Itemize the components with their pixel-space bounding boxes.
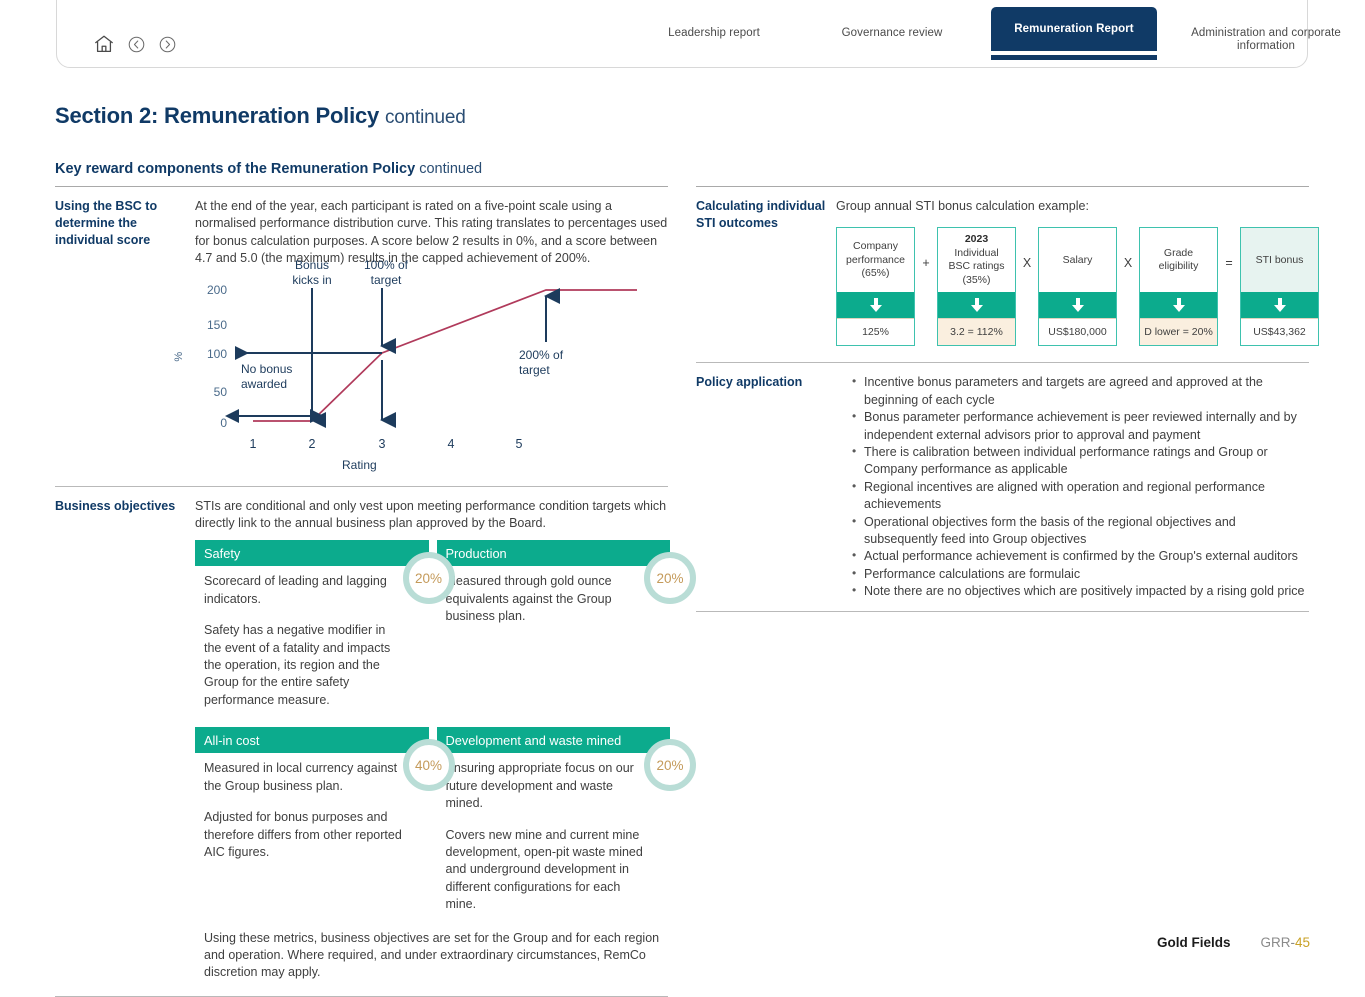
down-arrow-icon: [1241, 292, 1318, 318]
chart-xtick-4: 4: [441, 436, 461, 453]
page-title: Section 2: Remuneration Policy continued: [55, 103, 466, 129]
flow-operator-plus: +: [915, 227, 937, 272]
tab-bar: Leadership report Governance review Remu…: [597, 1, 1297, 69]
row-label-calculating-sti-outcomes: Calculating individual STI outcomes: [696, 187, 836, 346]
flow-title-line: Individual: [954, 247, 998, 261]
objective-card-body: Ensuring appropriate focus on our future…: [437, 753, 655, 913]
flow-box-value: 125%: [837, 318, 914, 345]
flow-operator-multiply-2: X: [1117, 227, 1139, 272]
objective-cards-row-1: Safety Scorecard of leading and lagging …: [195, 540, 670, 723]
tab-governance-review[interactable]: Governance review: [817, 1, 967, 40]
next-icon[interactable]: [158, 35, 177, 54]
flow-title-line: eligibility: [1159, 260, 1199, 274]
row-label-using-the-bsc: Using the BSC to determine the individua…: [55, 187, 195, 480]
sti-intro: Group annual STI bonus calculation examp…: [836, 198, 1319, 215]
flow-box-salary: Salary US$180,000: [1038, 227, 1117, 346]
policy-bullet: Performance calculations are formulaic: [852, 566, 1309, 583]
tab-leadership-report[interactable]: Leadership report: [639, 1, 789, 40]
flow-title-line: 2023: [965, 233, 988, 247]
flow-title-line: BSC ratings: [948, 260, 1004, 274]
down-arrow-icon: [1039, 292, 1116, 318]
chart-y-axis-label: %: [171, 351, 188, 361]
chart-ytick-0: 0: [193, 415, 227, 432]
objective-card-paragraph: Safety has a negative modifier in the ev…: [204, 622, 404, 709]
chart-xtick-2: 2: [302, 436, 322, 453]
row-body-policy-application: Incentive bonus parameters and targets a…: [836, 363, 1309, 600]
chart-ytick-100: 100: [193, 346, 227, 363]
objective-card-all-in-cost: All-in cost Measured in local currency a…: [195, 727, 429, 927]
objective-card-paragraph: Measured through gold ounce equivalents …: [446, 573, 646, 625]
row-calculating-sti-outcomes: Calculating individual STI outcomes Grou…: [696, 187, 1309, 346]
objective-card-paragraph: Ensuring appropriate focus on our future…: [446, 760, 646, 812]
row-label-policy-application: Policy application: [696, 363, 836, 600]
objective-card-title: All-in cost: [195, 727, 429, 753]
down-arrow-icon: [938, 292, 1015, 318]
flow-box-title: Grade eligibility: [1140, 228, 1217, 292]
home-icon[interactable]: [93, 33, 115, 55]
down-arrow-icon: [837, 292, 914, 318]
flow-box-individual-bsc-ratings: 2023 Individual BSC ratings (35%) 3.2 = …: [937, 227, 1016, 346]
tab-remuneration-report[interactable]: Remuneration Report: [991, 7, 1157, 51]
chart-ytick-50: 50: [193, 384, 227, 401]
objective-card-title: Production: [437, 540, 671, 566]
row-business-objectives: Business objectives STIs are conditional…: [55, 487, 668, 982]
policy-bullet: Note there are no objectives which are p…: [852, 583, 1309, 600]
flow-box-value: US$180,000: [1039, 318, 1116, 345]
row-policy-application: Policy application Incentive bonus param…: [696, 363, 1309, 600]
divider-bottom-right: [696, 611, 1309, 612]
row-body-using-the-bsc: At the end of the year, each participant…: [195, 187, 668, 480]
chart-xtick-1: 1: [243, 436, 263, 453]
objective-cards-row-2: All-in cost Measured in local currency a…: [195, 727, 670, 927]
objective-cards: Safety Scorecard of leading and lagging …: [195, 540, 670, 981]
objective-weight-badge: 20%: [644, 552, 696, 604]
policy-bullet: Actual performance achievement is confir…: [852, 548, 1309, 565]
chart-ytick-150: 150: [193, 317, 227, 334]
policy-bullet: Regional incentives are aligned with ope…: [852, 479, 1309, 514]
row-body-business-objectives: STIs are conditional and only vest upon …: [195, 487, 670, 982]
tab-administration-and-corporate-information[interactable]: Administration and corporate information: [1173, 1, 1359, 53]
flow-title-line: (65%): [861, 267, 889, 281]
flow-title-line: STI bonus: [1256, 254, 1304, 268]
flow-operator-multiply-1: X: [1016, 227, 1038, 272]
policy-bullet: Bonus parameter performance achievement …: [852, 409, 1309, 444]
flow-operator-equals: =: [1218, 227, 1240, 272]
objective-card-title: Safety: [195, 540, 429, 566]
prev-icon[interactable]: [127, 35, 146, 54]
flow-box-title: Company performance (65%): [837, 228, 914, 292]
objective-card-safety: Safety Scorecard of leading and lagging …: [195, 540, 429, 723]
business-objectives-closing-note: Using these metrics, business objectives…: [195, 930, 670, 982]
flow-box-value: 3.2 = 112%: [938, 318, 1015, 345]
objective-card-body: Measured in local currency against the G…: [195, 753, 413, 861]
footer-brand: Gold Fields: [1157, 935, 1231, 950]
flow-box-value: D lower = 20%: [1140, 318, 1217, 345]
policy-bullet: Operational objectives form the basis of…: [852, 514, 1309, 549]
flow-title-line: (35%): [962, 274, 990, 288]
policy-bullet: Incentive bonus parameters and targets a…: [852, 374, 1309, 409]
page-title-suffix: continued: [385, 107, 466, 128]
objective-card-development-and-waste-mined: Development and waste mined Ensuring app…: [437, 727, 671, 927]
bsc-paragraph: At the end of the year, each participant…: [195, 198, 668, 268]
objective-card-production: Production Measured through gold ounce e…: [437, 540, 671, 723]
sti-calculation-flow: Company performance (65%) 125% + 2023 In…: [836, 227, 1319, 346]
chart-xtick-5: 5: [509, 436, 529, 453]
row-body-calculating-sti-outcomes: Group annual STI bonus calculation examp…: [836, 187, 1319, 346]
objective-weight-badge: 20%: [644, 739, 696, 791]
chart-xtick-3: 3: [372, 436, 392, 453]
flow-box-company-performance: Company performance (65%) 125%: [836, 227, 915, 346]
flow-title-line: Salary: [1063, 254, 1093, 268]
flow-box-sti-bonus: STI bonus US$43,362: [1240, 227, 1319, 346]
tab-active-indicator: [991, 55, 1157, 60]
chart-ytick-200: 200: [193, 282, 227, 299]
nav-icon-group: [93, 33, 177, 55]
objective-card-paragraph: Scorecard of leading and lagging indicat…: [204, 573, 404, 608]
flow-box-title: 2023 Individual BSC ratings (35%): [938, 228, 1015, 292]
objective-card-body: Measured through gold ounce equivalents …: [437, 566, 655, 625]
row-label-business-objectives: Business objectives: [55, 487, 195, 982]
sub-heading: Key reward components of the Remuneratio…: [55, 161, 482, 177]
policy-bullet: There is calibration between individual …: [852, 444, 1309, 479]
page-title-main: Section 2: Remuneration Policy: [55, 103, 379, 128]
flow-box-value: US$43,362: [1241, 318, 1318, 345]
footer-page-reference: GRR-45: [1260, 935, 1310, 950]
chart-x-axis-label: Rating: [342, 457, 377, 474]
down-arrow-icon: [1140, 292, 1217, 318]
objective-card-title: Development and waste mined: [437, 727, 671, 753]
flow-title-line: Grade: [1164, 247, 1193, 261]
page-footer: Gold Fields GRR-45: [1157, 935, 1310, 950]
business-objectives-intro: STIs are conditional and only vest upon …: [195, 498, 670, 533]
objective-card-paragraph: Adjusted for bonus purposes and therefor…: [204, 809, 404, 861]
flow-box-title: Salary: [1039, 228, 1116, 292]
chart-annotation-200-of-target: 200% of target: [519, 348, 597, 378]
chart-annotation-100-of-target: 100% of target: [349, 258, 423, 288]
left-column: Using the BSC to determine the individua…: [55, 186, 668, 997]
sub-heading-suffix: continued: [419, 161, 482, 177]
footer-page-prefix: GRR-: [1260, 935, 1295, 950]
bonus-curve-chart: 200 150 100 50 0 % 1 2 3 4 5 Rating Bonu…: [197, 280, 667, 480]
sub-heading-main: Key reward components of the Remuneratio…: [55, 161, 415, 177]
row-using-the-bsc: Using the BSC to determine the individua…: [55, 187, 668, 480]
flow-box-title: STI bonus: [1241, 228, 1318, 292]
objective-weight-badge: 20%: [403, 552, 455, 604]
objective-card-paragraph: Measured in local currency against the G…: [204, 760, 404, 795]
right-column: Calculating individual STI outcomes Grou…: [696, 186, 1309, 612]
chart-annotation-bonus-kicks-in: Bonus kicks in: [281, 258, 343, 288]
footer-page-number: 45: [1295, 935, 1310, 950]
flow-title-line: performance: [846, 254, 905, 268]
policy-application-bullet-list: Incentive bonus parameters and targets a…: [836, 374, 1309, 600]
flow-title-line: Company: [853, 240, 898, 254]
objective-card-paragraph: Covers new mine and current mine develop…: [446, 827, 646, 914]
chart-annotation-no-bonus-awarded: No bonus awarded: [241, 362, 321, 392]
flow-box-grade-eligibility: Grade eligibility D lower = 20%: [1139, 227, 1218, 346]
top-navigation-bar: Leadership report Governance review Remu…: [56, 0, 1308, 68]
objective-weight-badge: 40%: [403, 739, 455, 791]
objective-card-body: Scorecard of leading and lagging indicat…: [195, 566, 413, 709]
